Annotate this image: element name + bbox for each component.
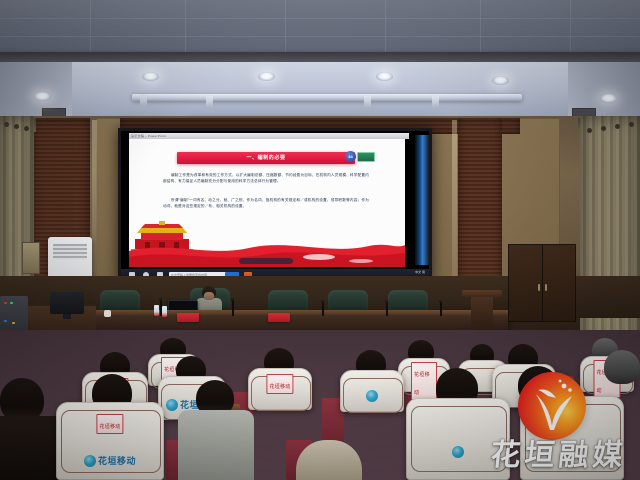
rack-led-2 bbox=[10, 302, 13, 304]
lectern-column bbox=[471, 297, 493, 330]
microphone-stem-2 bbox=[232, 300, 234, 316]
projection-screen-display: 演示文稿 - PowerPoint 一、编制的必要 44 编制工作是为改革和有效… bbox=[121, 131, 429, 281]
microphone-head-1 bbox=[159, 298, 162, 301]
china-mobile-logo-icon bbox=[452, 446, 464, 458]
curtain-hook-l2 bbox=[14, 124, 19, 129]
control-monitor-stand bbox=[63, 314, 71, 319]
chair-cover-logo-f2: 花垣移动 bbox=[84, 454, 136, 467]
microphone-stem-3 bbox=[322, 302, 324, 316]
downlight-4 bbox=[376, 72, 393, 81]
curtain-hook-r1 bbox=[629, 122, 634, 127]
audience-head-f6 bbox=[604, 350, 640, 384]
curtain-hook-r2 bbox=[615, 124, 620, 129]
track-light-drop-3 bbox=[364, 96, 371, 108]
chair-tag-text: 花垣移动 bbox=[99, 424, 120, 430]
chair-cover-m4 bbox=[340, 370, 404, 412]
rack-led-4 bbox=[12, 322, 15, 324]
cover-piping bbox=[411, 406, 507, 472]
china-mobile-logo-icon bbox=[84, 455, 96, 467]
tea-cup bbox=[104, 310, 111, 317]
head-table-top bbox=[88, 310, 508, 315]
projection-screen[interactable]: 演示文稿 - PowerPoint 一、编制的必要 44 编制工作是为改革和有效… bbox=[118, 128, 432, 284]
china-mobile-logo-icon bbox=[366, 390, 378, 402]
chair-tag-text: 花垣移动 bbox=[414, 372, 430, 396]
conference-hall-photo: 演示文稿 - PowerPoint 一、编制的必要 44 编制工作是为改革和有效… bbox=[0, 0, 640, 480]
track-light-drop-4 bbox=[432, 96, 439, 108]
track-light-drop-1 bbox=[140, 94, 147, 106]
chair-cover-f2: 花垣移动 花垣移动 bbox=[56, 402, 164, 480]
name-placard-1 bbox=[177, 313, 199, 322]
microphone-head-5 bbox=[439, 300, 442, 303]
ac-grille bbox=[53, 244, 87, 260]
downlight-6 bbox=[600, 94, 617, 103]
water-bottle-2 bbox=[162, 306, 167, 317]
double-door[interactable] bbox=[508, 244, 576, 322]
chair-cover-f4 bbox=[406, 398, 510, 480]
microphone-head-2 bbox=[231, 298, 234, 301]
powerpoint-floating-toolbar[interactable] bbox=[239, 258, 293, 264]
slide-badge: 44 bbox=[345, 151, 375, 162]
chair-tag-text: 花垣移动 bbox=[269, 384, 290, 390]
slide-title-banner: 一、编制的必要 bbox=[177, 152, 355, 164]
curtain-hook-r4 bbox=[587, 128, 592, 133]
slide-paragraph-1: 编制工作是为改革和有效的工作方式，以扩大编制总额、压缩数额、节约经费为目标，在机… bbox=[163, 172, 369, 184]
screen-right-edge-glow bbox=[415, 135, 429, 265]
chair-cover-logo-f4 bbox=[452, 446, 464, 458]
microphone-head-3 bbox=[321, 300, 324, 303]
ceiling-track-light-bar bbox=[132, 94, 522, 101]
lectern bbox=[462, 290, 502, 330]
slide-title-text: 一、编制的必要 bbox=[177, 152, 355, 164]
chair-tag-f2: 花垣移动 bbox=[96, 414, 123, 434]
downlight-1 bbox=[34, 92, 51, 101]
microphone-head-4 bbox=[385, 300, 388, 303]
door-handle-left[interactable] bbox=[538, 284, 540, 291]
track-light-drop-2 bbox=[206, 96, 213, 108]
presentation-slide: 一、编制的必要 44 编制工作是为改革和有效的工作方式，以扩大编制总额、压缩数额… bbox=[129, 139, 405, 267]
slide-badge-number: 44 bbox=[345, 151, 356, 162]
audience-shoulder-f3 bbox=[178, 410, 254, 480]
slide-badge-bar bbox=[357, 152, 375, 162]
chair-cover-f5 bbox=[520, 396, 624, 480]
microphone-stem-5 bbox=[440, 302, 442, 316]
downlight-2 bbox=[142, 72, 159, 81]
rack-led-1 bbox=[4, 302, 7, 304]
chair-tag-m3: 花垣移动 bbox=[266, 374, 293, 394]
chair-cover-m3: 花垣移动 bbox=[248, 368, 312, 410]
chair-tag-b1: 花垣移动 bbox=[411, 362, 437, 400]
chair-cover-logo-m4 bbox=[366, 390, 378, 402]
presenter-face bbox=[204, 292, 214, 300]
water-bottle-1 bbox=[154, 305, 159, 316]
name-placard-2 bbox=[268, 313, 290, 322]
downlight-5 bbox=[492, 76, 509, 85]
curtain-hook-l1 bbox=[4, 122, 9, 127]
wall-control-panel bbox=[22, 242, 40, 274]
lectern-top bbox=[462, 290, 502, 297]
china-mobile-logo-icon bbox=[166, 399, 178, 411]
microphone-stem-4 bbox=[386, 302, 388, 316]
taskbar-system-tray[interactable]: 中文 简 bbox=[415, 270, 425, 275]
control-monitor bbox=[50, 292, 84, 314]
chair-cover-brand: 花垣移动 bbox=[98, 454, 136, 467]
slide-paragraph-2: 所谓“编制”一词有名、动之分，就、广之别、作为名词，指机构的有关规定和／或机构的… bbox=[163, 197, 369, 209]
curtain-hook-l3 bbox=[24, 126, 29, 131]
door-handle-right[interactable] bbox=[545, 284, 547, 291]
cover-piping bbox=[525, 404, 621, 472]
ceiling-soffit bbox=[0, 62, 640, 120]
curtain-hook-r3 bbox=[601, 126, 606, 131]
downlight-3 bbox=[258, 72, 275, 81]
rack-led-3 bbox=[4, 320, 7, 322]
door-split bbox=[542, 244, 543, 322]
